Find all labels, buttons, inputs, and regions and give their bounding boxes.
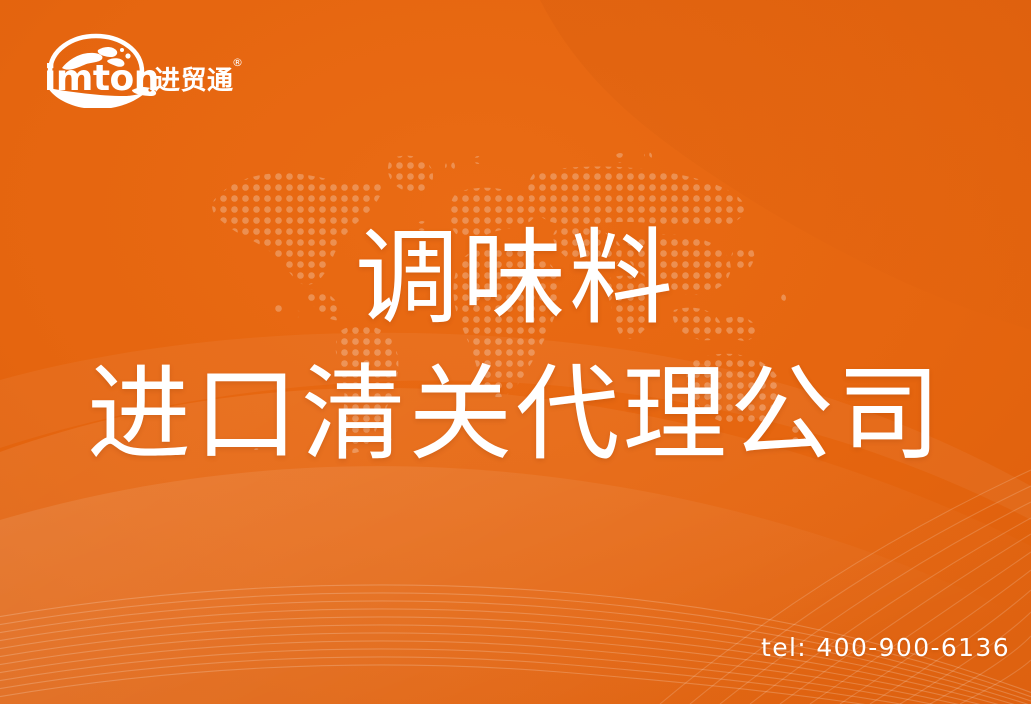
page-title: 调味料 进口清关代理公司	[0, 226, 1031, 480]
promo-banner: imton 进贸通 ® 调味料 进口清关代理公司 tel: 400-900-61…	[0, 0, 1031, 704]
brand-latin-text: imton	[44, 58, 159, 99]
brand-logo[interactable]: imton 进贸通 ®	[36, 32, 246, 108]
contact-phone[interactable]: tel: 400-900-6136	[761, 633, 1010, 662]
brand-wordmark: imton 进贸通 ®	[36, 32, 246, 108]
headline-line-2: 进口清关代理公司	[0, 362, 1031, 480]
trademark-symbol: ®	[232, 56, 243, 69]
headline-line-1: 调味料	[0, 226, 1031, 344]
brand-chinese-text: 进贸通	[154, 66, 234, 96]
